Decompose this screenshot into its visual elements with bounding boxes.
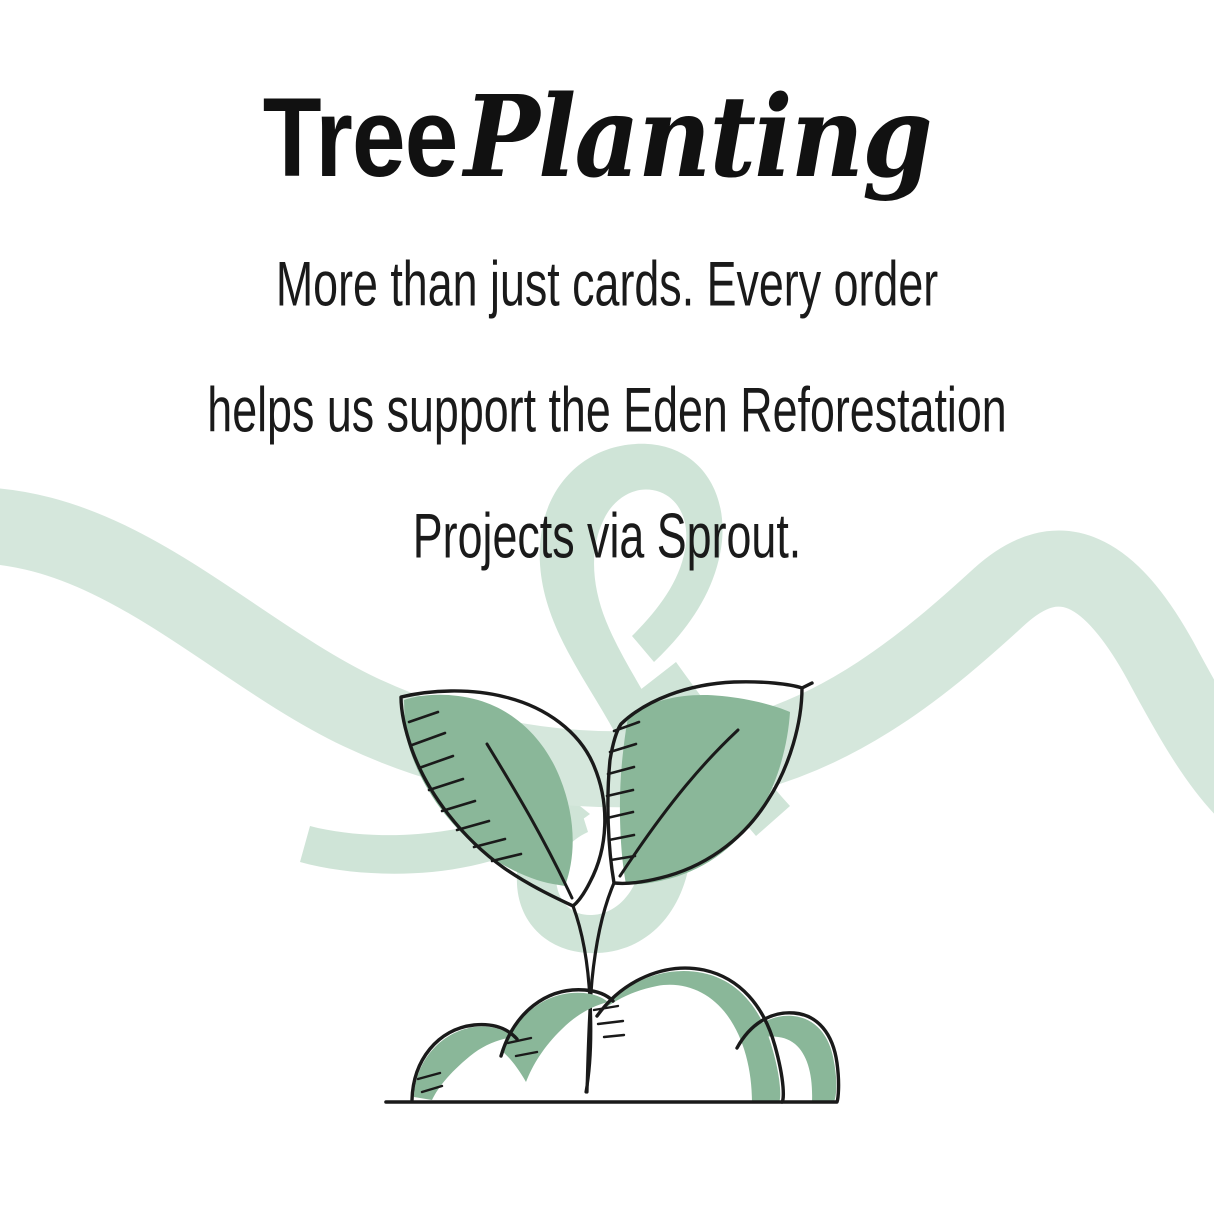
body-line-3: Projects via Sprout. bbox=[121, 505, 1092, 568]
left-leaf bbox=[401, 691, 605, 906]
right-leaf bbox=[607, 682, 812, 885]
stem bbox=[573, 883, 614, 1092]
text-block: TreePlanting More than just cards. Every… bbox=[0, 0, 1214, 564]
title-italic-word: Planting bbox=[464, 82, 931, 194]
title-bold-word: Tree bbox=[263, 82, 458, 194]
soil-hatching bbox=[418, 1006, 624, 1092]
right-leaf-hatching bbox=[607, 722, 639, 860]
page-title: TreePlanting bbox=[0, 82, 1214, 194]
body-line-2: helps us support the Eden Reforestation bbox=[121, 379, 1092, 442]
body-line-1: More than just cards. Every order bbox=[121, 253, 1092, 316]
soil-mound bbox=[412, 968, 839, 1102]
left-leaf-hatching bbox=[409, 712, 521, 861]
tree-planting-poster: TreePlanting More than just cards. Every… bbox=[0, 0, 1214, 1214]
